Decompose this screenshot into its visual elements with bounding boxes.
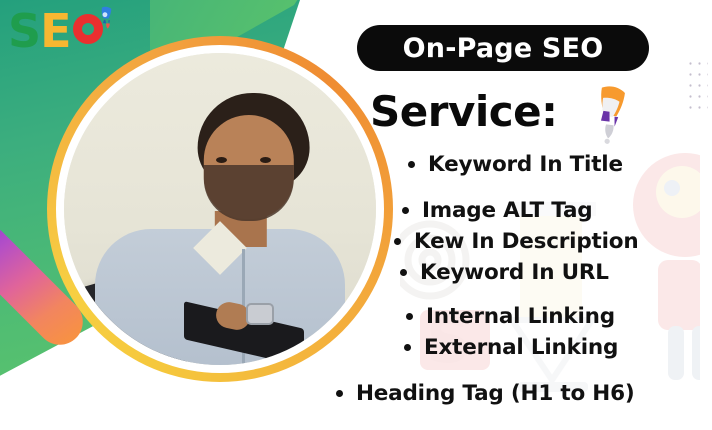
- seo-logo: S E: [8, 8, 115, 54]
- bullet-icon: [404, 344, 411, 351]
- logo-letter-s: S: [8, 8, 40, 54]
- rocket-icon: [570, 72, 649, 151]
- list-item: Keyword In URL: [400, 260, 702, 285]
- bullet-icon: [402, 207, 409, 214]
- list-item: External Linking: [404, 335, 702, 360]
- bullet-icon: [394, 238, 401, 245]
- portrait-eye-right: [260, 157, 271, 163]
- portrait-eye-left: [216, 157, 227, 163]
- list-item-label: Heading Tag (H1 to H6): [356, 381, 634, 406]
- service-list: Keyword In Title Image ALT Tag Kew In De…: [330, 152, 702, 406]
- list-item: Heading Tag (H1 to H6): [336, 381, 702, 406]
- logo-letter-e: E: [40, 8, 70, 54]
- bullet-icon: [408, 161, 415, 168]
- poster-canvas: S E: [0, 0, 712, 430]
- list-item-label: Image ALT Tag: [422, 198, 593, 223]
- list-item: Image ALT Tag: [402, 198, 702, 223]
- bullet-icon: [336, 390, 343, 397]
- dot-grid-icon: [684, 56, 708, 114]
- list-item-label: Internal Linking: [426, 304, 615, 329]
- bullet-icon: [400, 269, 407, 276]
- list-item: Kew In Description: [394, 229, 702, 254]
- portrait-wristwatch: [246, 303, 274, 325]
- page-title: Service:: [370, 87, 557, 136]
- list-item-label: Keyword In URL: [420, 260, 609, 285]
- list-item-label: External Linking: [424, 335, 618, 360]
- bullet-icon: [406, 313, 413, 320]
- list-item: Keyword In Title: [408, 152, 702, 177]
- list-item-label: Keyword In Title: [428, 152, 623, 177]
- logo-letter-o: [71, 8, 115, 54]
- on-page-seo-badge: On-Page SEO: [357, 25, 649, 71]
- badge-label: On-Page SEO: [403, 33, 604, 64]
- list-item: Internal Linking: [406, 304, 702, 329]
- list-item-label: Kew In Description: [414, 229, 638, 254]
- service-heading-row: Service:: [370, 80, 670, 142]
